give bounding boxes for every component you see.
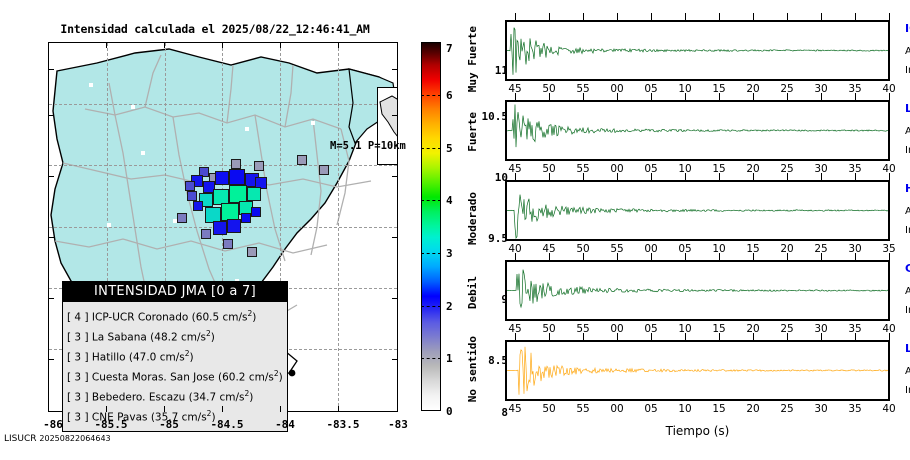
- legend-level: [ 3 ]: [67, 392, 89, 404]
- legend-unit: cm/s: [219, 392, 244, 404]
- legend-value: 34.7: [193, 392, 216, 404]
- colorbar-tick-label: 7: [446, 42, 453, 55]
- intensity-cell: [241, 213, 251, 223]
- y-axis-tick-label: 8: [448, 406, 508, 419]
- intensity-cell: [251, 207, 261, 217]
- jma-intensity-label: Int JMA: 3: [905, 65, 910, 76]
- footer-agency: LISUCR: [4, 434, 37, 444]
- max-acceleration-label: Acel. Max. 3.1: [905, 286, 910, 297]
- intensity-cell: [215, 171, 229, 185]
- seismogram-tick-labels: 455055000510152025303540: [505, 403, 890, 417]
- legend-level: [ 3 ]: [67, 332, 89, 344]
- colorbar-tick-label: 1: [446, 352, 453, 365]
- station-name-label[interactable]: ICP-UCR Coronado: [905, 22, 910, 35]
- jma-intensity-label: Int JMA: 3: [905, 385, 910, 396]
- intensity-cell: [223, 239, 233, 249]
- x-axis-tick-label: -84: [255, 418, 315, 431]
- legend-level: [ 3 ]: [67, 352, 89, 364]
- legend-exp: 2: [245, 389, 250, 398]
- intensity-cell: [227, 219, 241, 233]
- time-tick-label: 40: [877, 403, 901, 415]
- intensity-cell: [319, 165, 329, 175]
- colorbar-tick-label: 6: [446, 89, 453, 102]
- jma-intensity-label: Int JMA: 3: [905, 145, 910, 156]
- station-name-label[interactable]: La Sabana: [905, 342, 910, 355]
- intensity-cell: [231, 159, 241, 169]
- waveform-trace[interactable]: [505, 260, 890, 321]
- time-tick-label: 50: [537, 403, 561, 415]
- station-marker: [373, 171, 377, 175]
- time-tick-label: 20: [741, 403, 765, 415]
- legend-item: [ 3 ] Bebedero. Escazu (34.7 cm/s2): [67, 386, 287, 406]
- max-acceleration-label: Acel. Max. 3.2: [905, 206, 910, 217]
- time-tick-label: 55: [571, 403, 595, 415]
- grid-line-horizontal: [49, 165, 397, 166]
- x-axis-tick-label: -85.5: [81, 418, 141, 431]
- legend-item: [ 3 ] Cuesta Moras. San Jose (60.2 cm/s2…: [67, 366, 287, 386]
- intensity-cell: [254, 161, 264, 171]
- colorbar-category-label: Fuerte: [466, 112, 479, 152]
- colorbar-tick-label: 0: [446, 405, 453, 418]
- legend-exp: 2: [206, 329, 211, 338]
- legend-item: [ 4 ] ICP-UCR Coronado (60.5 cm/s2): [67, 306, 287, 326]
- intensity-cell: [229, 169, 245, 185]
- legend-unit: cm/s: [223, 312, 248, 324]
- station-name-label[interactable]: Hatillo: [905, 182, 910, 195]
- magnitude-depth-label: M=5.1 P=10km: [330, 140, 406, 152]
- legend-station: Hatillo: [92, 352, 126, 364]
- time-tick-label: 10: [673, 403, 697, 415]
- intensity-cell: [297, 155, 307, 165]
- legend-value: 60.2: [222, 372, 245, 384]
- legend-station: Cuesta Moras. San Jose: [92, 372, 215, 384]
- legend-value: 48.2: [154, 332, 177, 344]
- colorbar-tick-label: 5: [446, 142, 453, 155]
- legend-exp: 2: [248, 309, 253, 318]
- station-marker: [245, 127, 249, 131]
- waveform-trace[interactable]: [505, 20, 890, 81]
- legend-exp: 2: [207, 409, 212, 418]
- max-acceleration-label: Acel. Max. 3.2: [905, 46, 910, 57]
- time-tick-label: 30: [809, 403, 833, 415]
- legend-station: La Sabana: [92, 332, 147, 344]
- y-axis-tick-label: 10: [448, 171, 508, 184]
- legend-rows: [ 4 ] ICP-UCR Coronado (60.5 cm/s2) [ 3 …: [63, 302, 287, 431]
- x-axis-tick-label: -85: [139, 418, 199, 431]
- legend-exp: 2: [185, 349, 190, 358]
- time-tick-label: 05: [639, 403, 663, 415]
- legend-unit: cm/s: [181, 332, 206, 344]
- waveform-trace[interactable]: [505, 180, 890, 241]
- intensity-cell: [185, 181, 195, 191]
- station-marker: [141, 151, 145, 155]
- station-marker: [131, 105, 135, 109]
- x-axis-tick-label: -83.5: [313, 418, 373, 431]
- colorbar-tick-label: 2: [446, 300, 453, 313]
- time-tick-label: 45: [503, 403, 527, 415]
- colorbar-category-label: Moderado: [466, 192, 479, 245]
- max-acceleration-label: Acel. Max. 3.2: [905, 366, 910, 377]
- station-marker: [89, 83, 93, 87]
- jma-intensity-label: Int JMA: 3: [905, 305, 910, 316]
- time-tick-label: 15: [707, 403, 731, 415]
- colorbar-tick-label: 4: [446, 194, 453, 207]
- legend-station: Bebedero. Escazu: [92, 392, 185, 404]
- max-acceleration-label: Acel. Max. 3.2: [905, 126, 910, 137]
- station-name-label[interactable]: Cuesta Moras, San Jose: [905, 262, 910, 275]
- intensity-cell: [187, 191, 197, 201]
- legend-level: [ 4 ]: [67, 312, 89, 324]
- grid-line-horizontal: [49, 104, 397, 105]
- legend-exp: 2: [274, 369, 279, 378]
- x-axis-tick-label: -84.5: [197, 418, 257, 431]
- x-axis-label: Tiempo (s): [505, 424, 890, 438]
- legend-value: 47.0: [133, 352, 156, 364]
- jma-intensity-label: Int JMA: 3: [905, 225, 910, 236]
- x-axis-tick-label: -83: [368, 418, 428, 431]
- page-title: Intensidad calculada el 2025/08/22_12:46…: [0, 22, 430, 36]
- intensity-cell: [201, 229, 211, 239]
- intensity-cell: [177, 213, 187, 223]
- locator-inset-map[interactable]: [377, 87, 398, 165]
- intensity-cell: [213, 221, 227, 235]
- legend-header: INTENSIDAD JMA [0 a 7]: [63, 282, 287, 302]
- station-marker: [311, 121, 315, 125]
- lake-marker: [289, 370, 296, 377]
- footer-id: 20250822064643: [39, 434, 110, 443]
- colorbar-category-label: Muy Fuerte: [466, 26, 479, 92]
- intensity-cell: [247, 247, 257, 257]
- legend-value: 60.5: [196, 312, 219, 324]
- intensity-cell: [247, 187, 261, 201]
- waveform-trace[interactable]: [505, 340, 890, 401]
- colorbar-category-label: Debil: [466, 276, 479, 309]
- legend-unit: cm/s: [160, 352, 185, 364]
- station-name-label[interactable]: La Sabana: [905, 102, 910, 115]
- legend-level: [ 3 ]: [67, 372, 89, 384]
- intensity-legend: INTENSIDAD JMA [0 a 7] [ 4 ] ICP-UCR Cor…: [62, 281, 288, 432]
- colorbar-category-label: No sentido: [466, 336, 479, 402]
- footer-credit: LISUCR 20250822064643: [4, 434, 111, 444]
- legend-unit: cm/s: [249, 372, 274, 384]
- intensity-cell: [193, 201, 203, 211]
- waveform-trace[interactable]: [505, 100, 890, 161]
- colorbar-tick-label: 3: [446, 247, 453, 260]
- x-axis-tick-label: -86: [23, 418, 83, 431]
- time-tick-label: 35: [843, 403, 867, 415]
- time-tick-label: 00: [605, 403, 629, 415]
- legend-item: [ 3 ] Hatillo (47.0 cm/s2): [67, 346, 287, 366]
- legend-item: [ 3 ] La Sabana (48.2 cm/s2): [67, 326, 287, 346]
- station-marker: [107, 223, 111, 227]
- time-tick-label: 25: [775, 403, 799, 415]
- legend-station: ICP-UCR Coronado: [92, 312, 188, 324]
- intensity-colorbar: [421, 42, 441, 411]
